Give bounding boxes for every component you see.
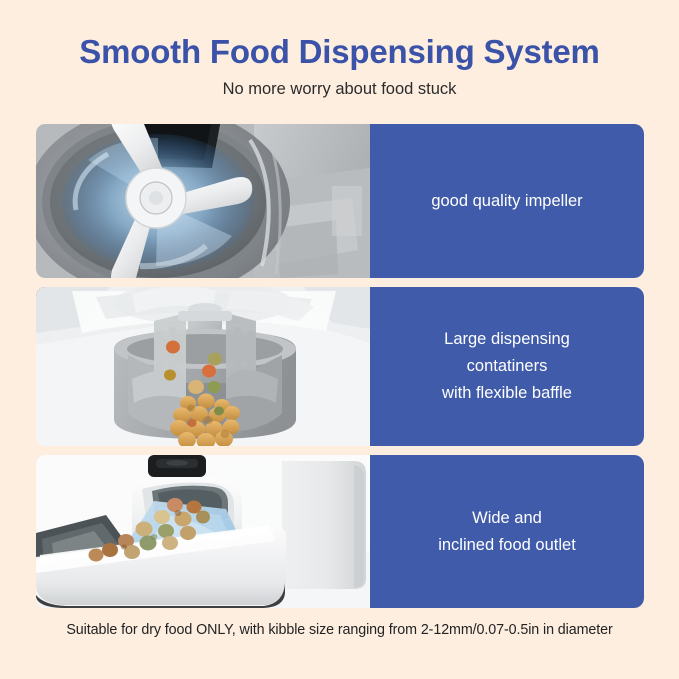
caption-line: contatiners bbox=[442, 353, 572, 380]
impeller-illustration bbox=[36, 124, 370, 278]
feature-row: Wide and inclined food outlet bbox=[36, 455, 644, 608]
page-title: Smooth Food Dispensing System bbox=[0, 34, 679, 70]
footer-note: Suitable for dry food ONLY, with kibble … bbox=[0, 622, 679, 638]
feature-row: Large dispensing contatiners with flexib… bbox=[36, 287, 644, 446]
feature-caption: Large dispensing contatiners with flexib… bbox=[370, 287, 644, 446]
caption-line: with flexible baffle bbox=[442, 380, 572, 407]
food-outlet-photo bbox=[36, 455, 370, 608]
product-infographic: Smooth Food Dispensing System No more wo… bbox=[0, 0, 679, 679]
dispensing-container-illustration bbox=[36, 287, 370, 446]
feature-caption: good quality impeller bbox=[370, 124, 644, 278]
caption-line: inclined food outlet bbox=[438, 532, 576, 559]
impeller-photo bbox=[36, 124, 370, 278]
food-outlet-illustration bbox=[36, 455, 370, 608]
feature-row: good quality impeller bbox=[36, 124, 644, 278]
caption-line: good quality impeller bbox=[431, 188, 582, 215]
dispensing-container-photo bbox=[36, 287, 370, 446]
caption-line: Large dispensing bbox=[442, 326, 572, 353]
header: Smooth Food Dispensing System No more wo… bbox=[0, 0, 679, 100]
page-subtitle: No more worry about food stuck bbox=[0, 80, 679, 100]
feature-caption: Wide and inclined food outlet bbox=[370, 455, 644, 608]
feature-rows: good quality impeller bbox=[36, 124, 644, 617]
caption-line: Wide and bbox=[438, 505, 576, 532]
